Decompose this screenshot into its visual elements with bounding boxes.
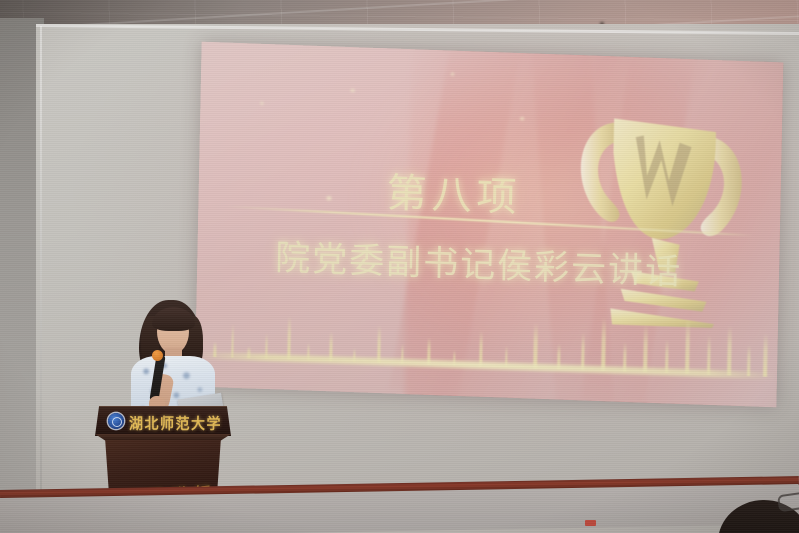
- projector-ambient-light: [195, 42, 784, 408]
- auditorium-photo: 第八项 院党委副书记侯彩云讲话 湖北师范大学 今都讲坛: [0, 0, 799, 533]
- floor-object: [585, 520, 596, 526]
- projection-screen: 第八项 院党委副书记侯彩云讲话: [198, 52, 790, 412]
- podium-lip: [95, 434, 231, 441]
- university-seal-icon: [108, 413, 124, 429]
- speaker-person: [119, 296, 227, 424]
- wall-panel-seam: [40, 26, 42, 526]
- projected-slide: 第八项 院党委副书记侯彩云讲话: [195, 42, 784, 408]
- podium-top-panel: 湖北师范大学: [95, 406, 231, 436]
- podium-institution-name: 湖北师范大学: [129, 413, 222, 434]
